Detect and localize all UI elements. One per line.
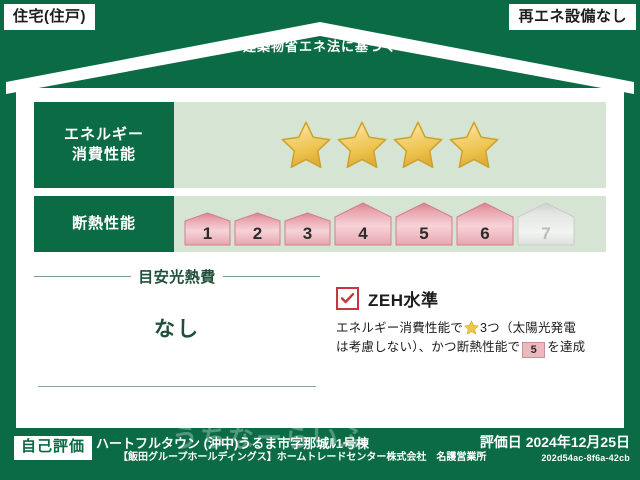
energy-star-rating xyxy=(174,102,606,188)
energy-label-card: 住宅(住戸) 再エネ設備なし 建築物省エネ法に基づく 省エネ性能ラベル エネルギ… xyxy=(0,0,640,480)
zeh-desc-part1: エネルギー消費性能で xyxy=(336,321,463,335)
self-evaluation-badge: 自己評価 xyxy=(14,436,92,460)
star-icon xyxy=(335,119,389,171)
property-name: ハートフルタウン (沖中)うるま市字那城ﾙ1号棟 xyxy=(96,436,466,452)
row-energy-label: エネルギー 消費性能 xyxy=(34,102,174,188)
zeh-heading: ZEH水準 xyxy=(336,286,606,311)
insulation-grade-number: 5 xyxy=(395,225,453,242)
insulation-grade-house: 7 xyxy=(517,202,575,246)
star-icon xyxy=(447,119,501,171)
houses-container: 1234567 xyxy=(184,202,575,246)
insulation-grade-number: 4 xyxy=(334,225,392,242)
row-insulation-performance: 断熱性能 1234567 xyxy=(34,196,606,252)
insulation-grade-number: 1 xyxy=(184,225,231,242)
row-energy-performance: エネルギー 消費性能 xyxy=(34,102,606,188)
utility-cost-block: 目安光熱費 なし xyxy=(34,264,320,412)
footer: 自己評価 ハートフルタウン (沖中)うるま市字那城ﾙ1号棟 【飯田グループホール… xyxy=(0,430,640,480)
zeh-checkbox[interactable] xyxy=(336,287,359,310)
insulation-grade-house: 4 xyxy=(334,202,392,246)
utility-cost-heading-text: 目安光熱費 xyxy=(138,266,216,287)
utility-cost-heading: 目安光熱費 xyxy=(34,266,320,287)
divider-left xyxy=(34,276,131,277)
zeh-desc-stars: 3つ（太陽光発電 xyxy=(480,321,576,335)
insulation-grade-number: 3 xyxy=(284,225,331,242)
lower-section: 目安光熱費 なし ZEH水準 エネルギー消費性能で xyxy=(34,264,606,412)
zeh-desc-part3: を達成 xyxy=(547,340,585,354)
insulation-grade-house: 5 xyxy=(395,202,453,246)
insulation-grade-number: 2 xyxy=(234,225,281,242)
row-energy-label-line1: エネルギー xyxy=(64,125,144,145)
insulation-grade-number: 7 xyxy=(517,225,575,242)
document-id: 202d54ac-8f6a-42cb xyxy=(541,453,630,464)
zeh-desc-grade-badge: 5 xyxy=(522,342,545,358)
zeh-description: エネルギー消費性能で 3つ（太陽光発電 は考慮しない）、かつ断熱性能で5を達成 xyxy=(336,319,606,358)
divider-right xyxy=(223,276,320,277)
check-icon xyxy=(341,293,354,304)
row-energy-label-line2: 消費性能 xyxy=(72,145,136,165)
star-icon xyxy=(391,119,445,171)
evaluation-date: 評価日 2024年12月25日 xyxy=(480,434,630,451)
company-name: 【飯田グループホールディングス】ホームトレードセンター株式会社 名護営業所 xyxy=(118,452,518,465)
insulation-grade-house: 6 xyxy=(456,202,514,246)
zeh-title: ZEH水準 xyxy=(368,286,439,311)
inline-star-icon xyxy=(464,320,479,335)
row-insulation-label: 断熱性能 xyxy=(34,196,174,252)
row-insulation-label-text: 断熱性能 xyxy=(72,214,136,234)
insulation-grade-house: 3 xyxy=(284,212,331,246)
insulation-grade-scale: 1234567 xyxy=(174,196,606,252)
utility-cost-underline xyxy=(38,386,316,387)
roof-shape xyxy=(6,22,634,94)
star-icon xyxy=(279,119,333,171)
zeh-desc-part2: は考慮しない）、かつ断熱性能で xyxy=(336,340,520,354)
zeh-block: ZEH水準 エネルギー消費性能で 3つ（太陽光発電 は考慮しない）、かつ断熱性能… xyxy=(320,264,606,412)
label-body-card: エネルギー 消費性能 断熱性能 1234567 目安光熱費 xyxy=(16,88,624,428)
insulation-grade-house: 1 xyxy=(184,212,231,246)
utility-cost-value: なし xyxy=(34,313,320,343)
stars-container xyxy=(279,119,501,171)
insulation-grade-number: 6 xyxy=(456,225,514,242)
insulation-grade-house: 2 xyxy=(234,212,281,246)
